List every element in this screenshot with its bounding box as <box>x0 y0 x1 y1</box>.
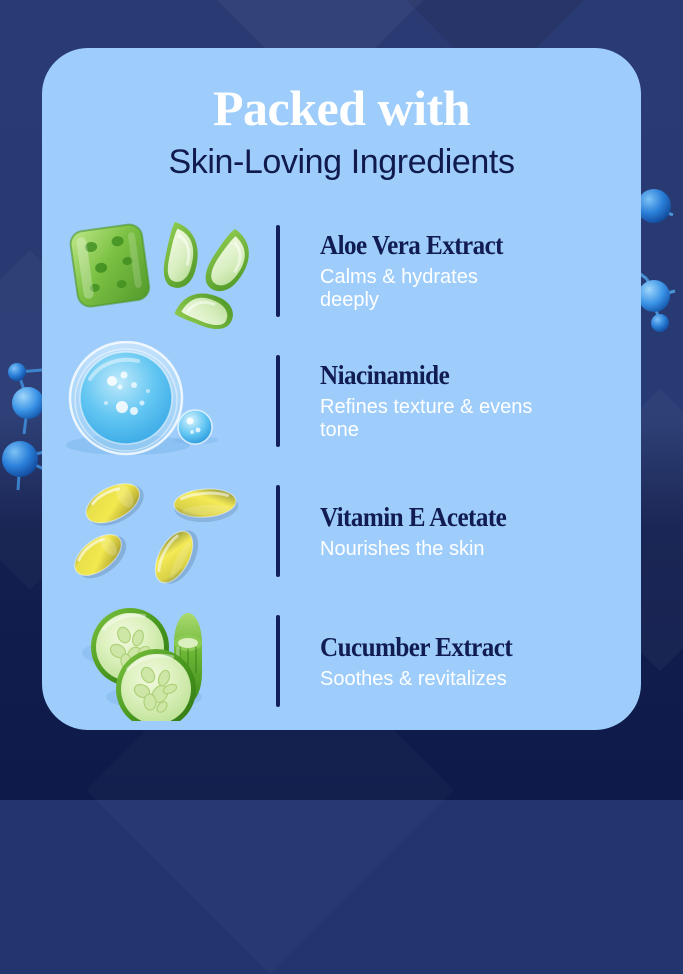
ingredient-text: Niacinamide Refines texture & evens tone <box>320 360 641 442</box>
cucumber-slices-icon <box>56 601 276 721</box>
row-divider <box>276 615 280 707</box>
ingredient-subtitle: Nourishes the skin <box>320 538 535 561</box>
list-item[interactable]: Niacinamide Refines texture & evens tone <box>42 336 641 466</box>
row-divider <box>276 485 280 577</box>
petri-dish-serum-icon <box>56 341 276 461</box>
ingredient-text: Aloe Vera Extract Calms & hydrates deepl… <box>320 230 641 312</box>
softgel-capsules-icon <box>56 471 276 591</box>
row-divider <box>276 225 280 317</box>
ingredient-subtitle: Soothes & revitalizes <box>320 668 535 691</box>
ingredient-subtitle: Refines texture & evens tone <box>320 396 535 442</box>
ingredient-subtitle: Calms & hydrates deeply <box>320 266 535 312</box>
ingredient-title: Niacinamide <box>320 360 602 391</box>
heading-line-2: Skin-Loving Ingredients <box>42 140 641 184</box>
list-item[interactable]: Vitamin E Acetate Nourishes the skin <box>42 466 641 596</box>
ingredient-text: Cucumber Extract Soothes & revitalizes <box>320 632 641 691</box>
ingredient-title: Cucumber Extract <box>320 632 602 663</box>
page-title: Packed with Skin-Loving Ingredients <box>42 48 641 184</box>
list-item[interactable]: Aloe Vera Extract Calms & hydrates deepl… <box>42 206 641 336</box>
ingredient-text: Vitamin E Acetate Nourishes the skin <box>320 502 641 561</box>
ingredient-list: Aloe Vera Extract Calms & hydrates deepl… <box>42 206 641 726</box>
heading-line-1: Packed with <box>42 78 641 138</box>
ingredient-title: Aloe Vera Extract <box>320 230 602 261</box>
aloe-vera-pieces-icon <box>56 211 276 331</box>
ingredients-card: Packed with Skin-Loving Ingredients <box>42 48 641 730</box>
list-item[interactable]: Cucumber Extract Soothes & revitalizes <box>42 596 641 726</box>
ingredient-title: Vitamin E Acetate <box>320 502 602 533</box>
row-divider <box>276 355 280 447</box>
